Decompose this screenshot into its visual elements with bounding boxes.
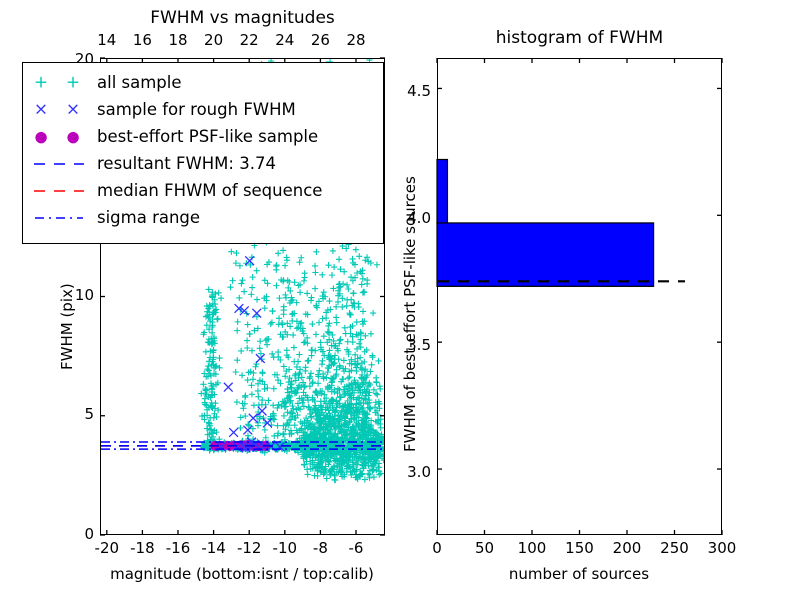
figure-canvas: FWHM vs magnitudes 14 16 18 20 22 24 26 …	[0, 0, 800, 600]
histogram-bars	[0, 0, 800, 600]
